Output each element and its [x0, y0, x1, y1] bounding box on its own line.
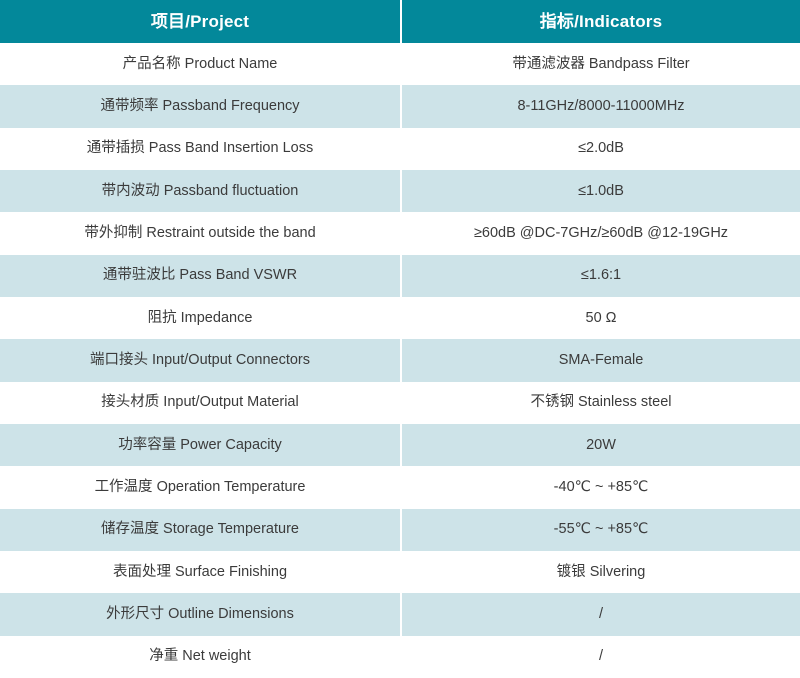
table-row: 通带驻波比 Pass Band VSWR ≤1.6:1: [0, 255, 800, 297]
cell-project: 表面处理 Surface Finishing: [0, 551, 402, 593]
table-body: 产品名称 Product Name 带通滤波器 Bandpass Filter …: [0, 43, 800, 678]
column-header-indicators: 指标/Indicators: [402, 0, 800, 43]
specification-table: 项目/Project 指标/Indicators 产品名称 Product Na…: [0, 0, 800, 678]
table-row: 通带插损 Pass Band Insertion Loss ≤2.0dB: [0, 128, 800, 170]
cell-indicator: 不锈钢 Stainless steel: [402, 382, 800, 424]
cell-project: 净重 Net weight: [0, 636, 402, 678]
cell-project: 阻抗 Impedance: [0, 297, 402, 339]
cell-indicator: 20W: [402, 424, 800, 466]
cell-indicator: 带通滤波器 Bandpass Filter: [402, 43, 800, 85]
cell-indicator: -55℃ ~ +85℃: [402, 509, 800, 551]
table-row: 带内波动 Passband fluctuation ≤1.0dB: [0, 170, 800, 212]
cell-project: 接头材质 Input/Output Material: [0, 382, 402, 424]
cell-indicator: 50 Ω: [402, 297, 800, 339]
cell-indicator: 镀银 Silvering: [402, 551, 800, 593]
cell-project: 通带频率 Passband Frequency: [0, 85, 402, 127]
cell-project: 外形尺寸 Outline Dimensions: [0, 593, 402, 635]
cell-indicator: /: [402, 593, 800, 635]
table-row: 净重 Net weight /: [0, 636, 800, 678]
cell-indicator: SMA-Female: [402, 339, 800, 381]
cell-project: 端口接头 Input/Output Connectors: [0, 339, 402, 381]
cell-indicator: /: [402, 636, 800, 678]
table-row: 端口接头 Input/Output Connectors SMA-Female: [0, 339, 800, 381]
cell-indicator: ≤2.0dB: [402, 128, 800, 170]
cell-project: 通带驻波比 Pass Band VSWR: [0, 255, 402, 297]
table-row: 表面处理 Surface Finishing 镀银 Silvering: [0, 551, 800, 593]
cell-indicator: ≥60dB @DC-7GHz/≥60dB @12-19GHz: [402, 212, 800, 254]
table-row: 阻抗 Impedance 50 Ω: [0, 297, 800, 339]
cell-project: 功率容量 Power Capacity: [0, 424, 402, 466]
cell-indicator: ≤1.0dB: [402, 170, 800, 212]
table-header-row: 项目/Project 指标/Indicators: [0, 0, 800, 43]
table-row: 外形尺寸 Outline Dimensions /: [0, 593, 800, 635]
cell-indicator: ≤1.6:1: [402, 255, 800, 297]
cell-project: 带内波动 Passband fluctuation: [0, 170, 402, 212]
cell-project: 工作温度 Operation Temperature: [0, 466, 402, 508]
cell-indicator: -40℃ ~ +85℃: [402, 466, 800, 508]
table-row: 工作温度 Operation Temperature -40℃ ~ +85℃: [0, 466, 800, 508]
table-row: 功率容量 Power Capacity 20W: [0, 424, 800, 466]
table-row: 带外抑制 Restraint outside the band ≥60dB @D…: [0, 212, 800, 254]
cell-project: 储存温度 Storage Temperature: [0, 509, 402, 551]
table-row: 产品名称 Product Name 带通滤波器 Bandpass Filter: [0, 43, 800, 85]
cell-indicator: 8-11GHz/8000-11000MHz: [402, 85, 800, 127]
table-row: 储存温度 Storage Temperature -55℃ ~ +85℃: [0, 509, 800, 551]
table-row: 通带频率 Passband Frequency 8-11GHz/8000-110…: [0, 85, 800, 127]
column-header-project: 项目/Project: [0, 0, 402, 43]
cell-project: 带外抑制 Restraint outside the band: [0, 212, 402, 254]
cell-project: 通带插损 Pass Band Insertion Loss: [0, 128, 402, 170]
table-header: 项目/Project 指标/Indicators: [0, 0, 800, 43]
cell-project: 产品名称 Product Name: [0, 43, 402, 85]
table-row: 接头材质 Input/Output Material 不锈钢 Stainless…: [0, 382, 800, 424]
